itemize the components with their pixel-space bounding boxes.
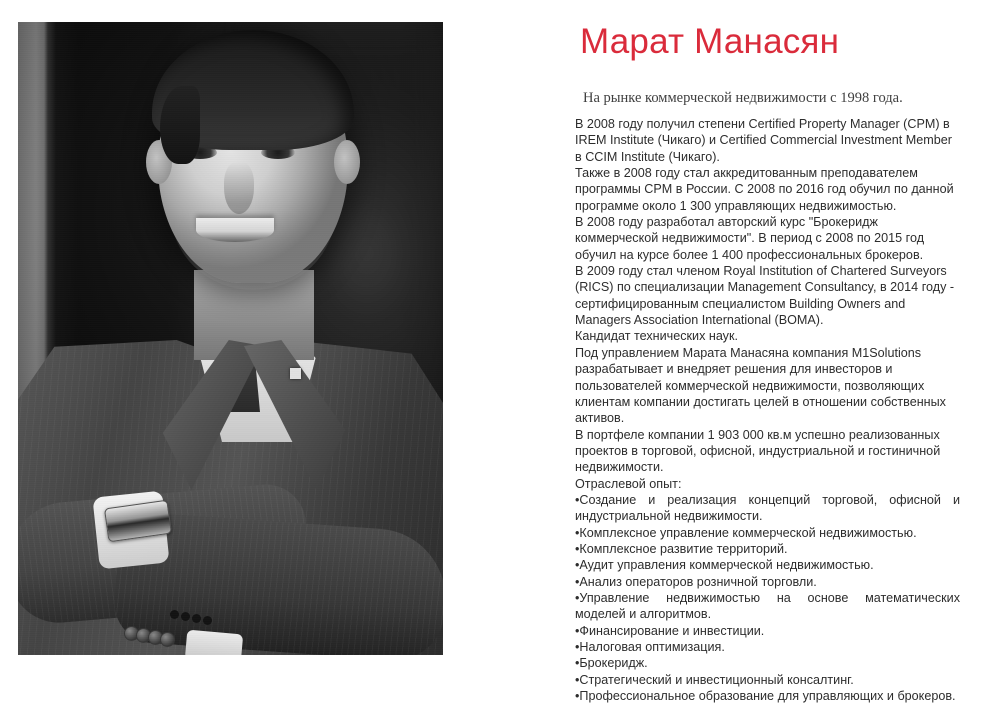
profile-lede: На рынке коммерческой недвижимости с 199… (583, 89, 903, 107)
profile-paragraph: В портфеле компании 1 903 000 кв.м успеш… (575, 427, 960, 476)
nose (224, 162, 254, 214)
experience-item: •Комплексное развитие территорий. (575, 541, 960, 557)
experience-item: •Комплексное управление коммерческой нед… (575, 525, 960, 541)
portrait-photo (18, 22, 443, 655)
smile (196, 218, 274, 242)
ear-right (334, 140, 360, 184)
experience-item: •Брокеридж. (575, 655, 960, 671)
profile-paragraph: В 2008 году получил степени Certified Pr… (575, 116, 960, 165)
profile-page: Марат Манасян На рынке коммерческой недв… (0, 0, 987, 683)
experience-heading: Отраслевой опыт: (575, 476, 960, 492)
experience-item: •Стратегический и инвестиционный консалт… (575, 672, 960, 688)
experience-item: •Финансирование и инвестиции. (575, 623, 960, 639)
profile-paragraph: Под управлением Марата Манасяна компания… (575, 345, 960, 427)
shirt-cuff-right (185, 630, 243, 655)
experience-item: •Аудит управления коммерческой недвижимо… (575, 557, 960, 573)
profile-paragraph: Также в 2008 году стал аккредитованным п… (575, 165, 960, 214)
profile-paragraph: В 2009 году стал членом Royal Institutio… (575, 263, 960, 328)
experience-item: •Создание и реализация концепций торгово… (575, 492, 960, 525)
experience-item: •Профессиональное образование для управл… (575, 688, 960, 704)
profile-paragraph: В 2008 году разработал авторский курс "Б… (575, 214, 960, 263)
profile-text-column: Марат Манасян На рынке коммерческой недв… (575, 0, 965, 683)
page-title: Марат Манасян (580, 21, 839, 63)
profile-body: В 2008 году получил степени Certified Pr… (575, 116, 960, 704)
sleeve-buttons-left (124, 626, 170, 640)
experience-item: •Управление недвижимостью на основе мате… (575, 590, 960, 623)
profile-paragraph: Кандидат технических наук. (575, 328, 960, 344)
experience-item: •Налоговая оптимизация. (575, 639, 960, 655)
lapel-pin (290, 368, 301, 379)
experience-item: •Анализ операторов розничной торговли. (575, 574, 960, 590)
